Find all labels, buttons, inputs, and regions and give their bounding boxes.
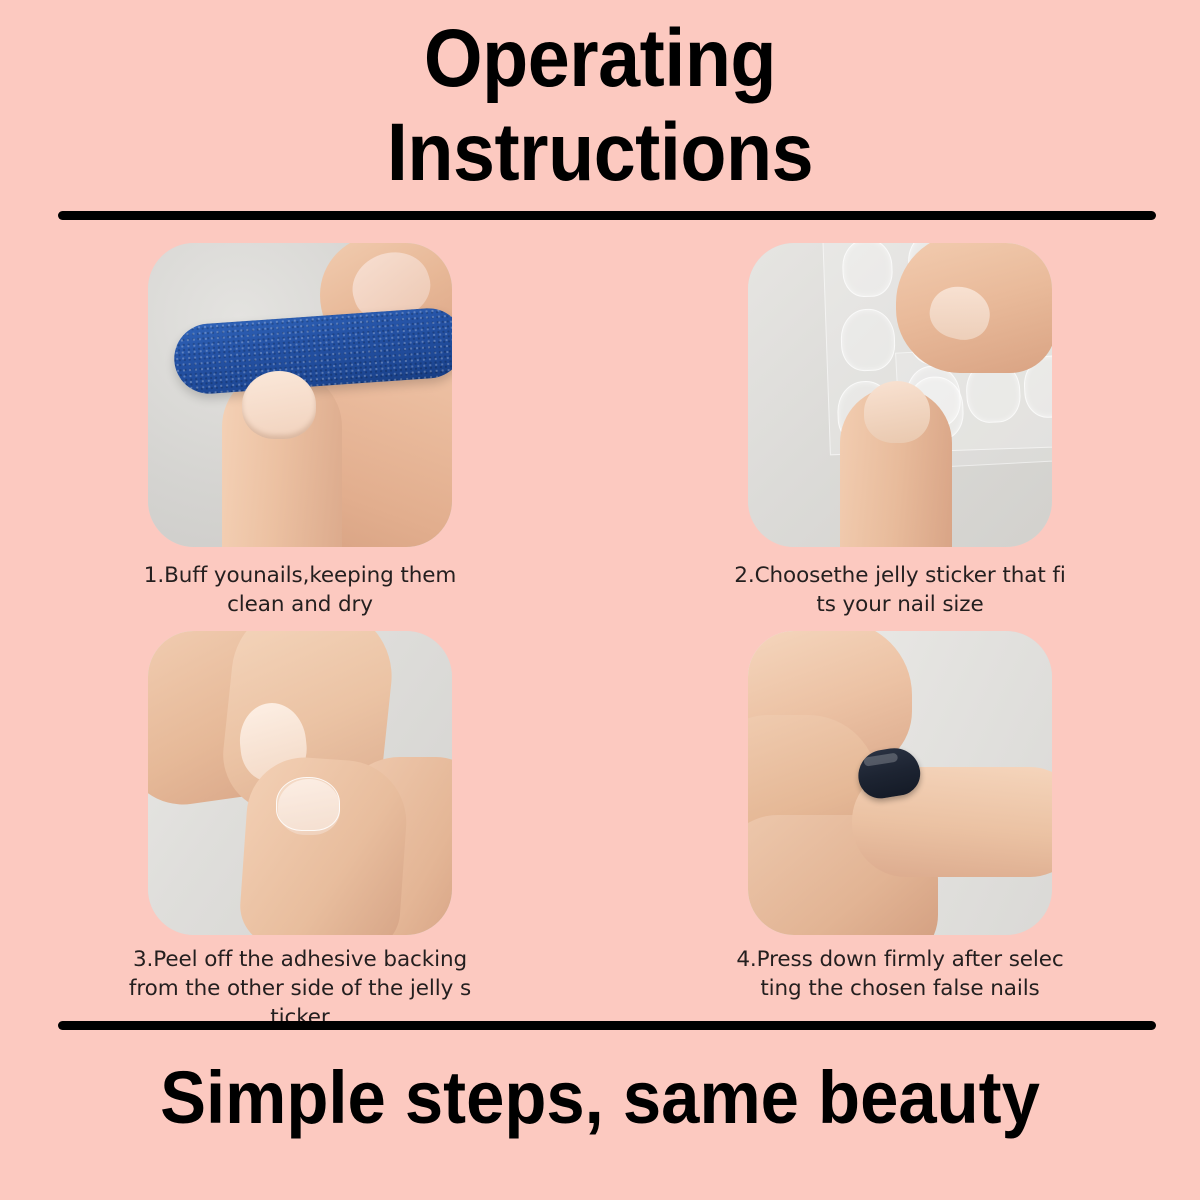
step-item-1: 1.Buff younails,keeping them clean and d… [85, 243, 515, 619]
step-caption-3: 3.Peel off the adhesive backing from the… [125, 945, 475, 1032]
finger-nail-shape [242, 371, 316, 439]
photo-buff-nails-with-blue-file [148, 243, 452, 547]
photo-choose-jelly-sticker-sheet [748, 243, 1052, 547]
step-item-4: 4.Press down firmly after selec ting the… [685, 631, 1115, 1032]
step-caption-4: 4.Press down firmly after selec ting the… [725, 945, 1075, 1003]
instructions-page: Operating Instructions 1.Buff younails,k… [0, 0, 1200, 1200]
jelly-tab-icon [840, 308, 896, 372]
step-caption-1: 1.Buff younails,keeping them clean and d… [125, 561, 475, 619]
page-title-line-2: Instructions [48, 106, 1152, 200]
jelly-tab-icon [841, 243, 893, 298]
finger-nail-shape [864, 381, 930, 443]
step-item-3: 3.Peel off the adhesive backing from the… [85, 631, 515, 1032]
jelly-tab-icon [276, 777, 340, 831]
footer: Simple steps, same beauty [0, 1055, 1200, 1141]
photo-press-down-false-nail [748, 631, 1052, 935]
page-title-line-1: Operating [48, 12, 1152, 106]
step-item-2: 2.Choosethe jelly sticker that fi ts you… [685, 243, 1115, 619]
photo-peel-adhesive-backing [148, 631, 452, 935]
divider-bottom [58, 1021, 1156, 1030]
steps-grid: 1.Buff younails,keeping them clean and d… [0, 243, 1200, 1032]
page-title: Operating Instructions [0, 12, 1200, 200]
footer-tagline: Simple steps, same beauty [42, 1055, 1158, 1141]
divider-top [58, 211, 1156, 220]
step-caption-2: 2.Choosethe jelly sticker that fi ts you… [725, 561, 1075, 619]
